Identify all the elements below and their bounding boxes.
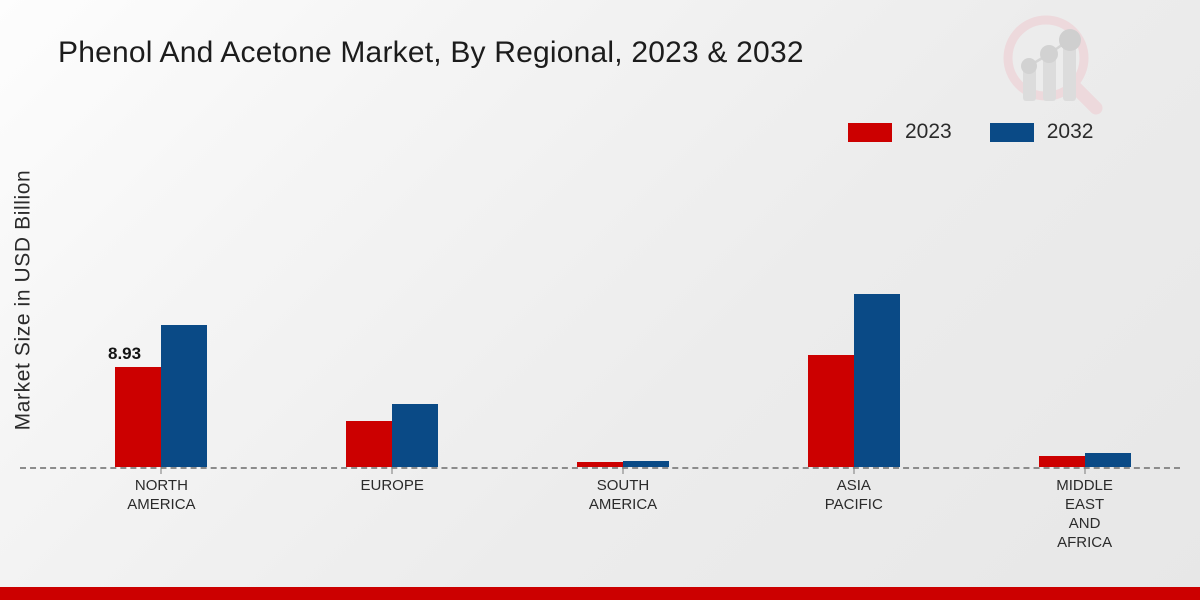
bar-2023-south-america[interactable] — [577, 462, 623, 467]
footer-stripe — [0, 587, 1200, 600]
x-axis-label-line: ASIA — [825, 476, 883, 495]
x-axis-label-line: PACIFIC — [825, 495, 883, 514]
bar-2032-europe[interactable] — [392, 404, 438, 467]
x-axis-label-europe: EUROPE — [361, 476, 424, 495]
x-axis-label-line: AND — [1056, 514, 1113, 533]
x-axis-tick-south-america — [622, 467, 623, 474]
x-axis-tick-europe — [392, 467, 393, 474]
chart-figure: Phenol And Acetone Market, By Regional, … — [0, 0, 1200, 600]
bar-2032-south-america[interactable] — [623, 461, 669, 467]
x-axis-label-line: MIDDLE — [1056, 476, 1113, 495]
bar-group-north-america: 8.93 NORTH AMERICA — [46, 0, 277, 467]
plot-area: 8.93 NORTH AMERICA EUROPE — [0, 0, 1200, 600]
bar-group-middle-east-and-africa: MIDDLE EAST AND AFRICA — [969, 0, 1200, 467]
bar-group-asia-pacific: ASIA PACIFIC — [738, 0, 969, 467]
x-axis-label-south-america: SOUTH AMERICA — [589, 476, 657, 514]
bar-2032-north-america[interactable] — [161, 325, 207, 467]
x-axis-tick-middle-east-and-africa — [1084, 467, 1085, 474]
bar-2032-asia-pacific[interactable] — [854, 294, 900, 467]
bar-group-europe: EUROPE — [277, 0, 508, 467]
bar-2023-asia-pacific[interactable] — [808, 355, 854, 467]
x-axis-tick-north-america — [161, 467, 162, 474]
bar-2023-middle-east-and-africa[interactable] — [1039, 456, 1085, 467]
bar-groups: 8.93 NORTH AMERICA EUROPE — [46, 0, 1200, 467]
x-axis-label-line: AFRICA — [1056, 533, 1113, 552]
x-axis-label-line: AMERICA — [127, 495, 195, 514]
bar-2023-europe[interactable] — [346, 421, 392, 467]
x-axis-label-asia-pacific: ASIA PACIFIC — [825, 476, 883, 514]
bar-2023-north-america[interactable] — [115, 367, 161, 467]
x-axis-label-line: AMERICA — [589, 495, 657, 514]
x-axis-label-line: SOUTH — [589, 476, 657, 495]
x-axis-label-middle-east-and-africa: MIDDLE EAST AND AFRICA — [1056, 476, 1113, 552]
bar-value-label-north-america-2023: 8.93 — [108, 344, 141, 364]
x-axis-tick-asia-pacific — [853, 467, 854, 474]
bars-north-america — [115, 0, 207, 467]
bar-2032-middle-east-and-africa[interactable] — [1085, 453, 1131, 467]
x-axis-label-line: NORTH — [127, 476, 195, 495]
bars-middle-east-and-africa — [1039, 0, 1131, 467]
bars-south-america — [577, 0, 669, 467]
x-axis-label-line: EAST — [1056, 495, 1113, 514]
x-axis-baseline — [20, 467, 1180, 469]
bars-europe — [346, 0, 438, 467]
bars-asia-pacific — [808, 0, 900, 467]
x-axis-label-line: EUROPE — [361, 476, 424, 495]
x-axis-label-north-america: NORTH AMERICA — [127, 476, 195, 514]
bar-group-south-america: SOUTH AMERICA — [508, 0, 739, 467]
